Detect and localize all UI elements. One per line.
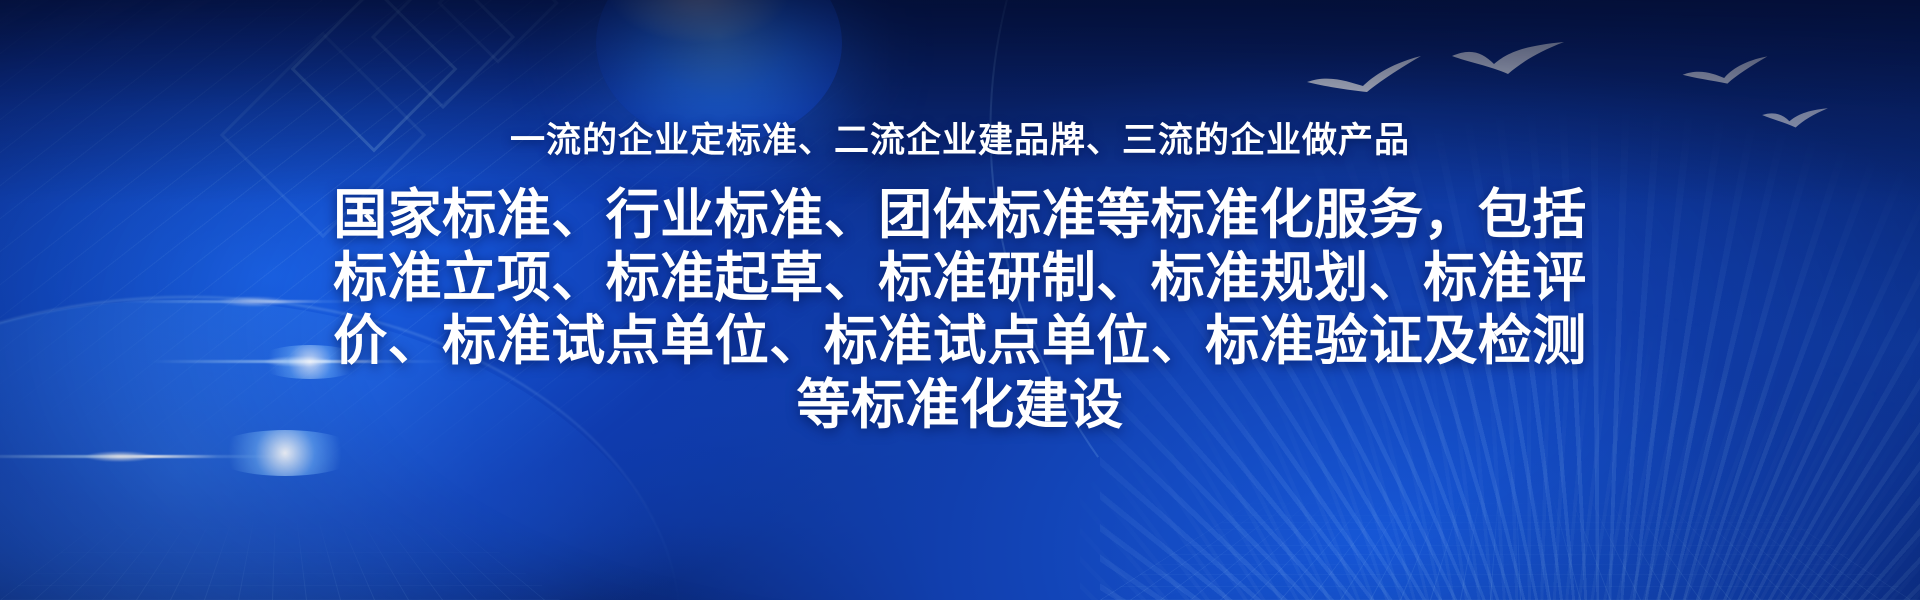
banner-content: 一流的企业定标准、二流企业建品牌、三流的企业做产品 国家标准、行业标准、团体标准… [0, 0, 1920, 600]
banner-headline: 一流的企业定标准、二流企业建品牌、三流的企业做产品 [510, 120, 1410, 162]
banner-body-text: 国家标准、行业标准、团体标准等标准化服务，包括标准立项、标准起草、标准研制、标准… [323, 184, 1598, 437]
promotional-banner: 一流的企业定标准、二流企业建品牌、三流的企业做产品 国家标准、行业标准、团体标准… [0, 0, 1920, 600]
